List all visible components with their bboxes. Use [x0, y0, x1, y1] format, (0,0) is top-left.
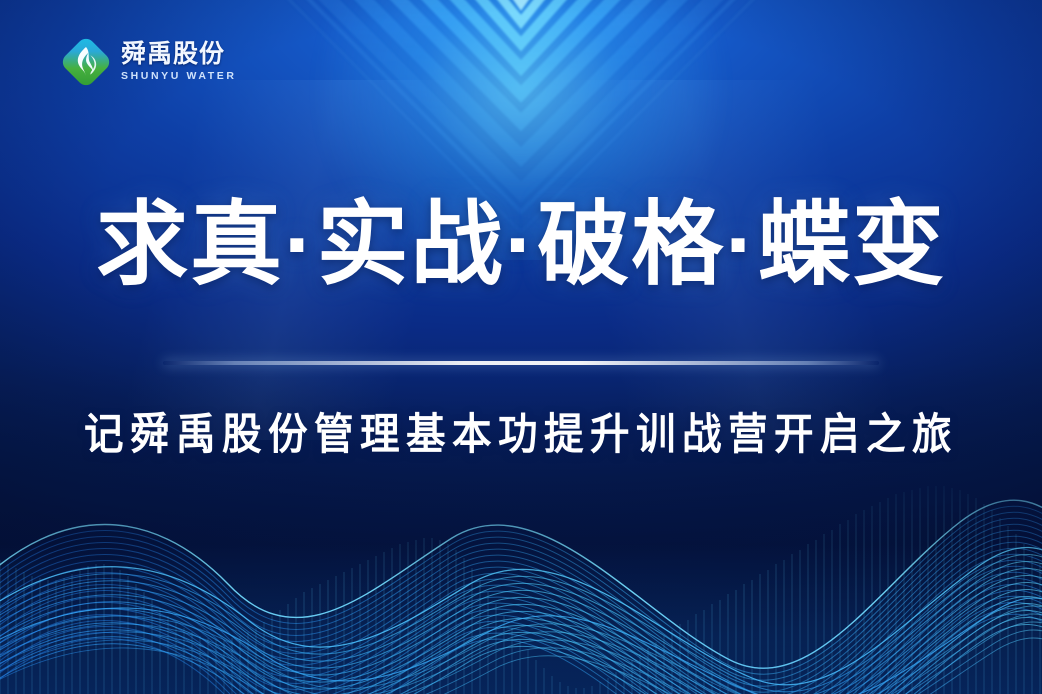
shunyu-diamond-leaf-logo-icon [60, 36, 112, 88]
page-title: 求真·实战·破格·蝶变 [0, 196, 1042, 295]
brand-logo[interactable]: 舜禹股份 SHUNYU WATER [60, 36, 237, 88]
brand-wordmark: 舜禹股份 SHUNYU WATER [121, 42, 237, 82]
wave-line-graphic [0, 464, 1042, 694]
brand-name-en: SHUNYU WATER [121, 71, 237, 82]
poster-canvas: 舜禹股份 SHUNYU WATER 求真·实战·破格·蝶变 记舜禹股份管理基本功… [0, 0, 1042, 694]
wave-lines-svg [0, 464, 1042, 694]
brand-name-cn: 舜禹股份 [121, 42, 237, 67]
title-divider [163, 361, 879, 365]
page-subtitle: 记舜禹股份管理基本功提升训战营开启之旅 [42, 400, 1001, 462]
